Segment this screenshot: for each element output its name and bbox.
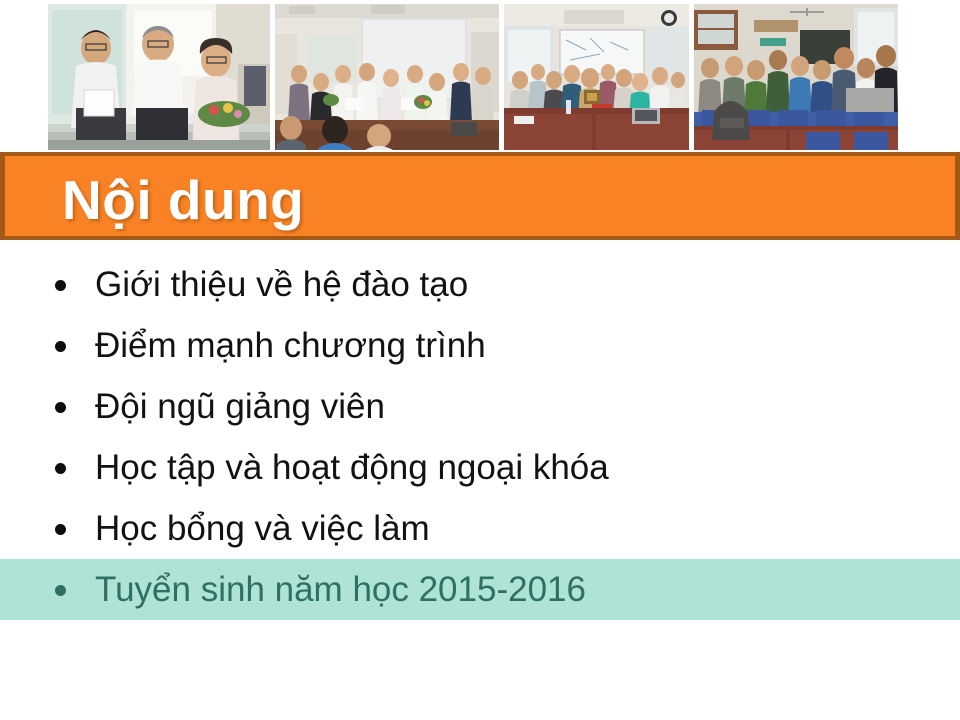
content-bullet-list: Giới thiệu về hệ đào tạo Điểm mạnh chươn…	[0, 254, 960, 620]
bullet-dot-icon	[55, 341, 66, 352]
photo-award-ceremony-three-people-image	[48, 4, 270, 150]
photo-group-certificate-presentation-image	[275, 4, 499, 150]
slide-title-bar: Nội dung	[0, 152, 960, 240]
list-item-label: Học bổng và việc làm	[95, 509, 430, 549]
list-item-label: Điểm mạnh chương trình	[95, 326, 486, 366]
list-item: Đội ngũ giảng viên	[0, 376, 960, 437]
list-item-label: Đội ngũ giảng viên	[95, 387, 385, 427]
bullet-dot-icon	[55, 585, 66, 596]
list-item-label: Tuyển sinh năm học 2015-2016	[95, 570, 586, 610]
photo-lab-group-with-plaque-image	[504, 4, 689, 150]
list-item: Điểm mạnh chương trình	[0, 315, 960, 376]
bullet-dot-icon	[55, 280, 66, 291]
bullet-dot-icon	[55, 463, 66, 474]
list-item: Giới thiệu về hệ đào tạo	[0, 254, 960, 315]
bullet-dot-icon	[55, 524, 66, 535]
photo-lab-group-with-plaque	[504, 4, 689, 150]
photo-students-classroom	[694, 4, 898, 150]
page-title: Nội dung	[62, 165, 304, 235]
photo-students-classroom-image	[694, 4, 898, 150]
photo-strip	[48, 4, 898, 150]
photo-group-certificate-presentation	[275, 4, 499, 150]
list-item-highlighted: Tuyển sinh năm học 2015-2016	[0, 559, 960, 620]
list-item: Học bổng và việc làm	[0, 498, 960, 559]
list-item: Học tập và hoạt động ngoại khóa	[0, 437, 960, 498]
photo-award-ceremony-three-people	[48, 4, 270, 150]
bullet-dot-icon	[55, 402, 66, 413]
list-item-label: Học tập và hoạt động ngoại khóa	[95, 448, 609, 488]
list-item-label: Giới thiệu về hệ đào tạo	[95, 265, 468, 305]
